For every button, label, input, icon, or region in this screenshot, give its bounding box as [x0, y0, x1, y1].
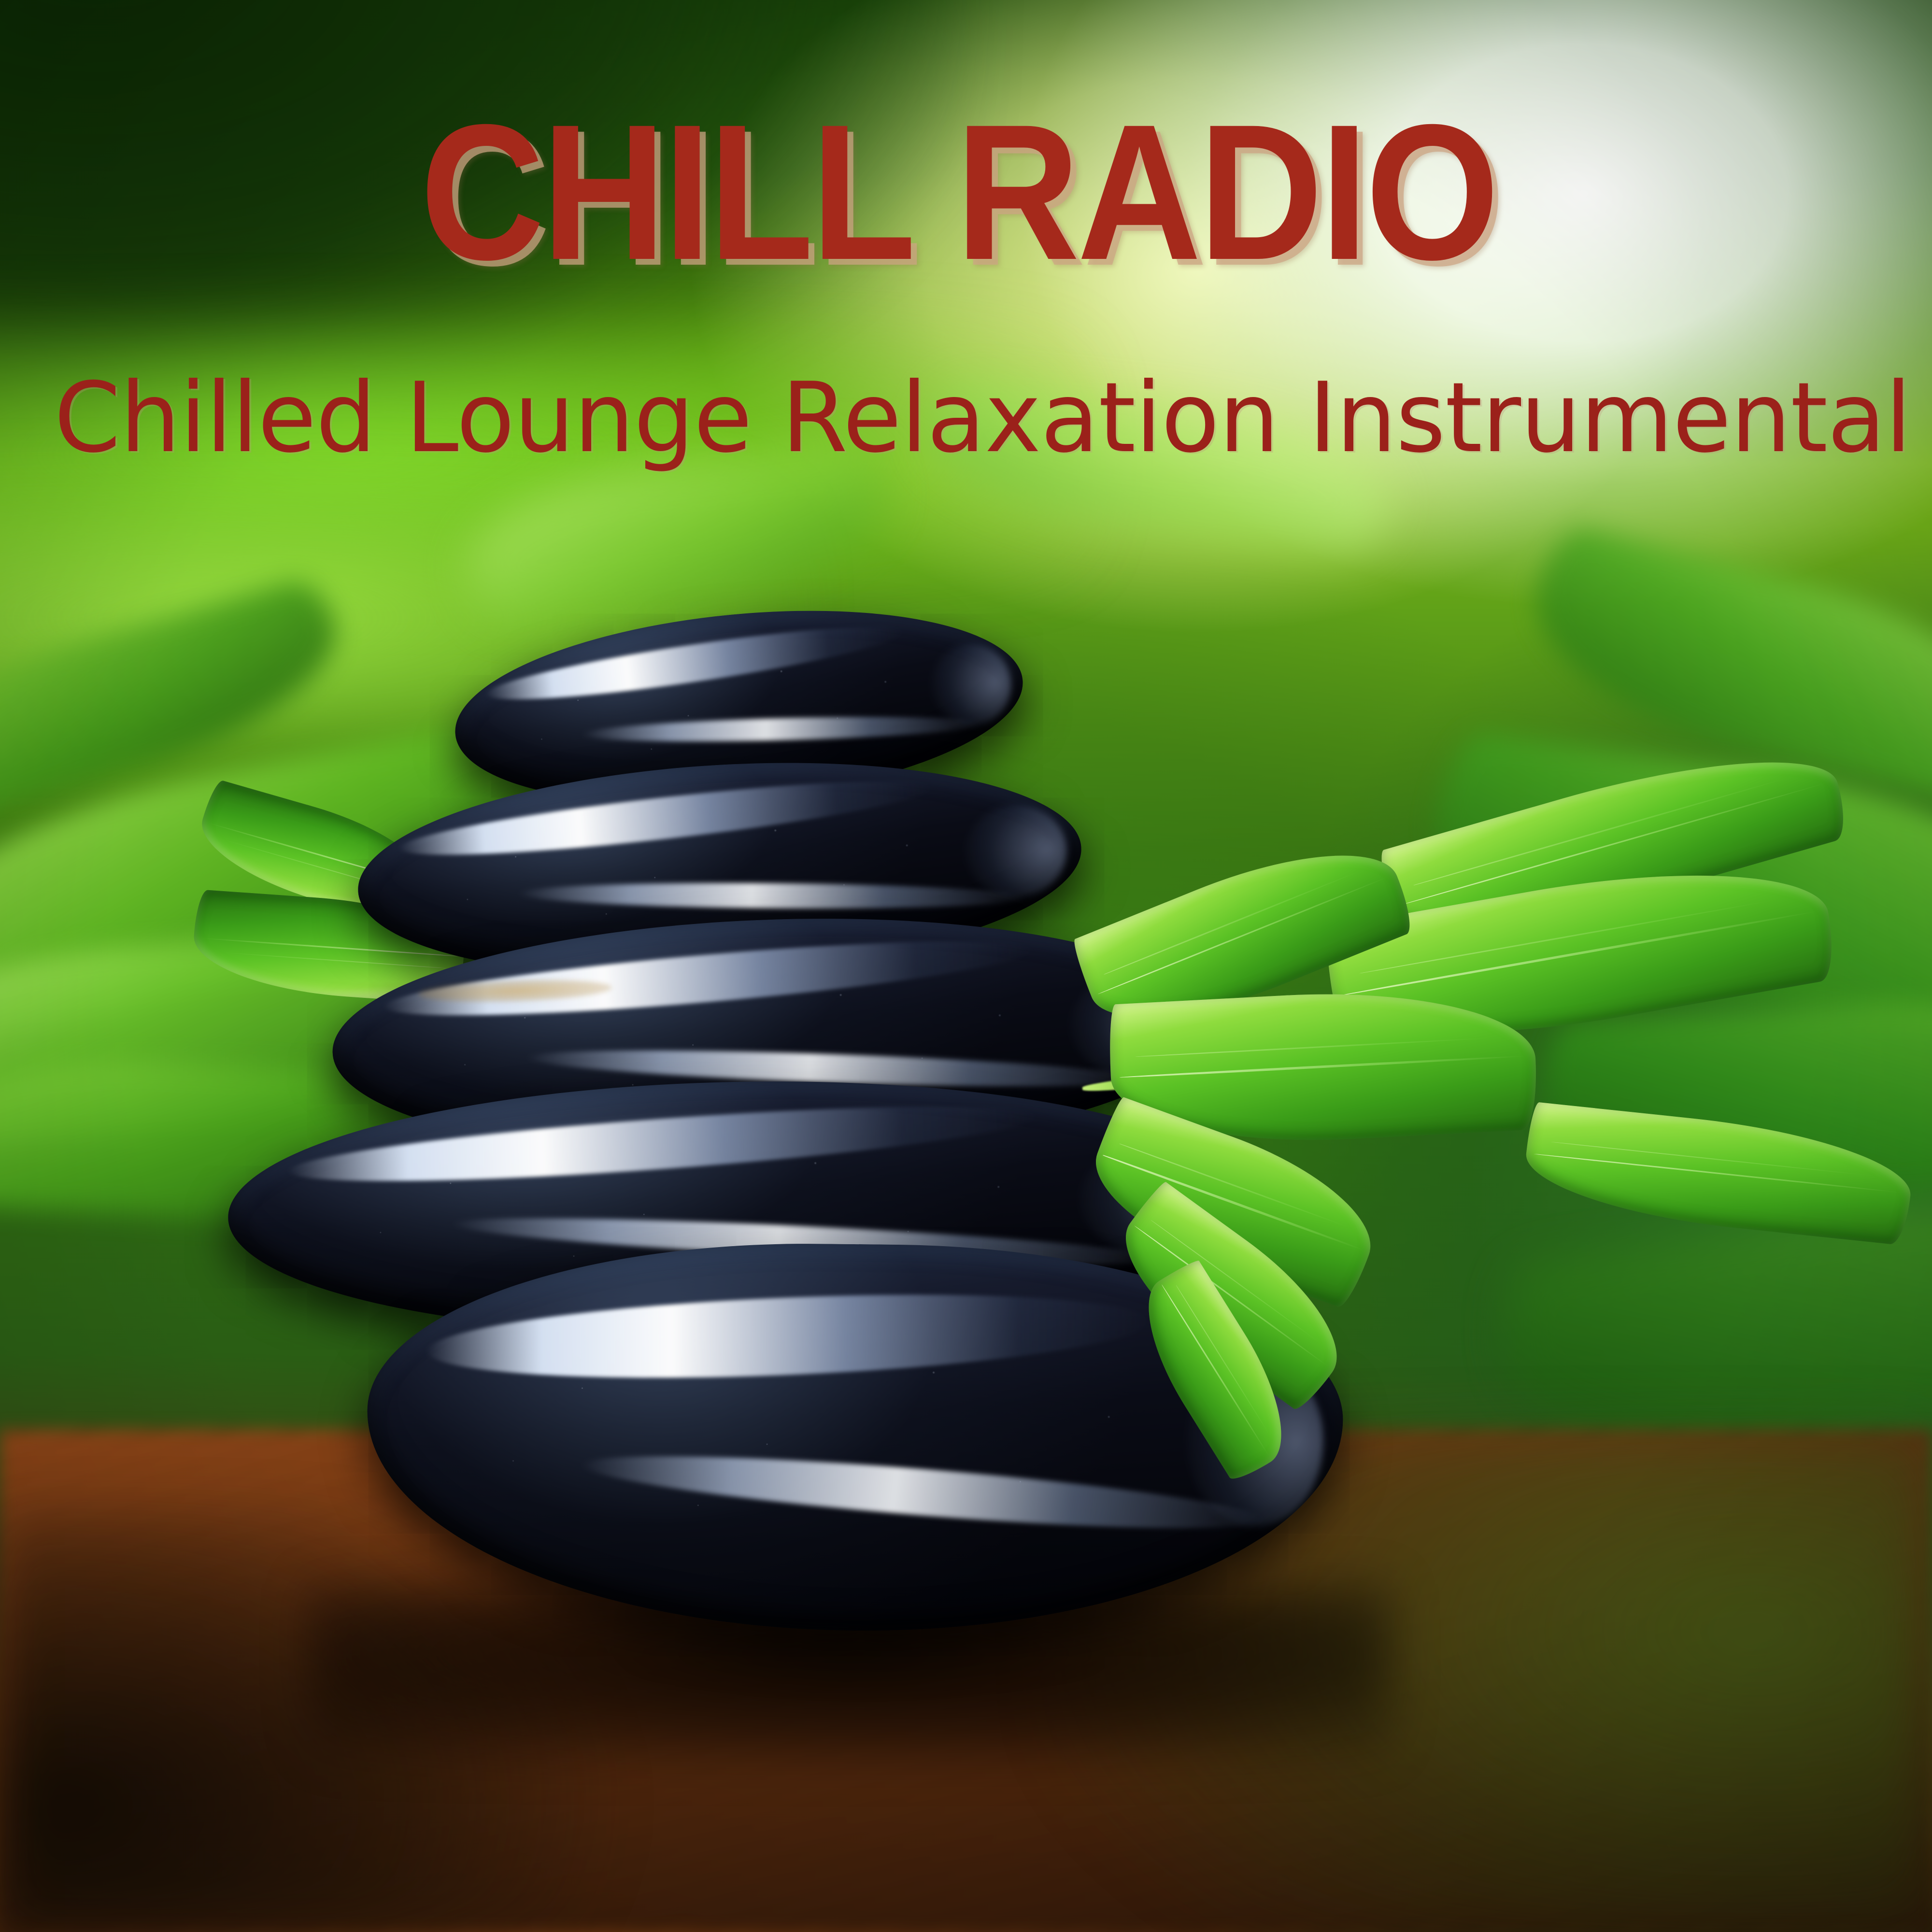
album-title: CHILL RADIO [420, 107, 1497, 277]
album-subtitle: Chilled Lounge Relaxation Instrumental M… [54, 370, 1932, 467]
album-cover: CHILL RADIO Chilled Lounge Relaxation In… [0, 0, 1932, 1932]
